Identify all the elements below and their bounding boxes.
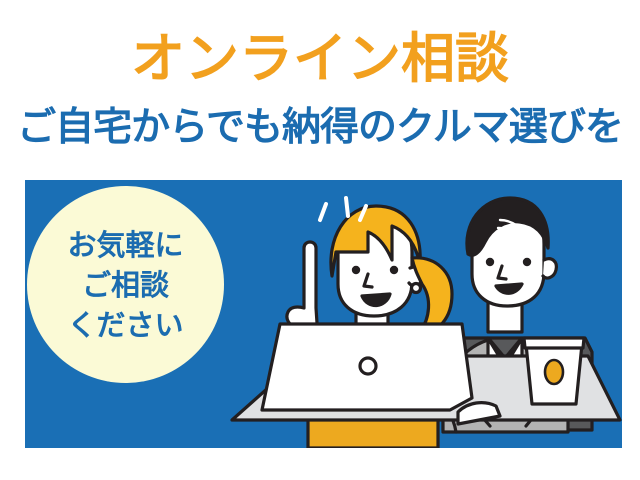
laptop-icon [262, 324, 472, 410]
illustration-panel: お気軽に ご相談 ください [25, 180, 622, 448]
page-title: オンライン相談 [0, 28, 640, 90]
badge-line-1: お気軽に [67, 225, 183, 265]
illustration-svg [200, 180, 622, 448]
coffee-cup-icon [524, 338, 584, 404]
badge-line-3: ください [67, 305, 183, 345]
page-subtitle: ご自宅からでも納得のクルマ選びを [0, 104, 640, 152]
badge-line-2: ご相談 [82, 265, 169, 305]
consultation-illustration [200, 180, 622, 448]
status-badge: お気軽に ご相談 ください [27, 186, 224, 383]
online-consultation-banner: オンライン相談 ご自宅からでも納得のクルマ選びを お気軽に ご相談 ください [0, 0, 640, 480]
